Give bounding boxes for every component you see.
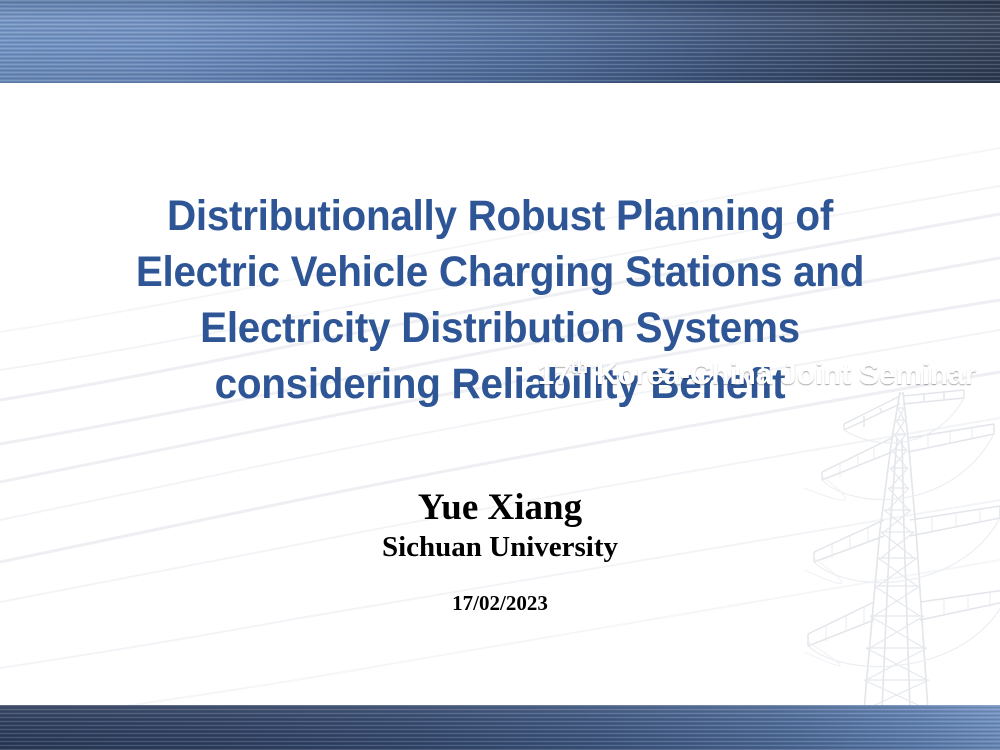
author-affiliation: Sichuan University <box>0 529 1000 565</box>
author-name: Yue Xiang <box>0 487 1000 529</box>
title-slide: 17th Korea-China Joint Seminar Distribut… <box>0 0 1000 750</box>
seminar-title-prefix: 17 <box>538 358 571 391</box>
presentation-date: 17/02/2023 <box>0 591 1000 615</box>
title-line-1: Distributionally Robust Planning of <box>167 192 833 240</box>
author-block: Yue Xiang Sichuan University 17/02/2023 <box>0 487 1000 615</box>
header-band <box>0 0 1000 83</box>
page-number: 1 <box>963 367 972 384</box>
seminar-title-superscript: th <box>571 356 588 377</box>
title-line-2: Electric Vehicle Charging Stations and <box>136 248 864 296</box>
title-line-3: Electricity Distribution Systems <box>200 304 800 352</box>
seminar-title-rest: Korea-China Joint Seminar <box>588 358 976 391</box>
seminar-title: 17th Korea-China Joint Seminar <box>538 360 976 390</box>
footer-band <box>0 705 1000 750</box>
